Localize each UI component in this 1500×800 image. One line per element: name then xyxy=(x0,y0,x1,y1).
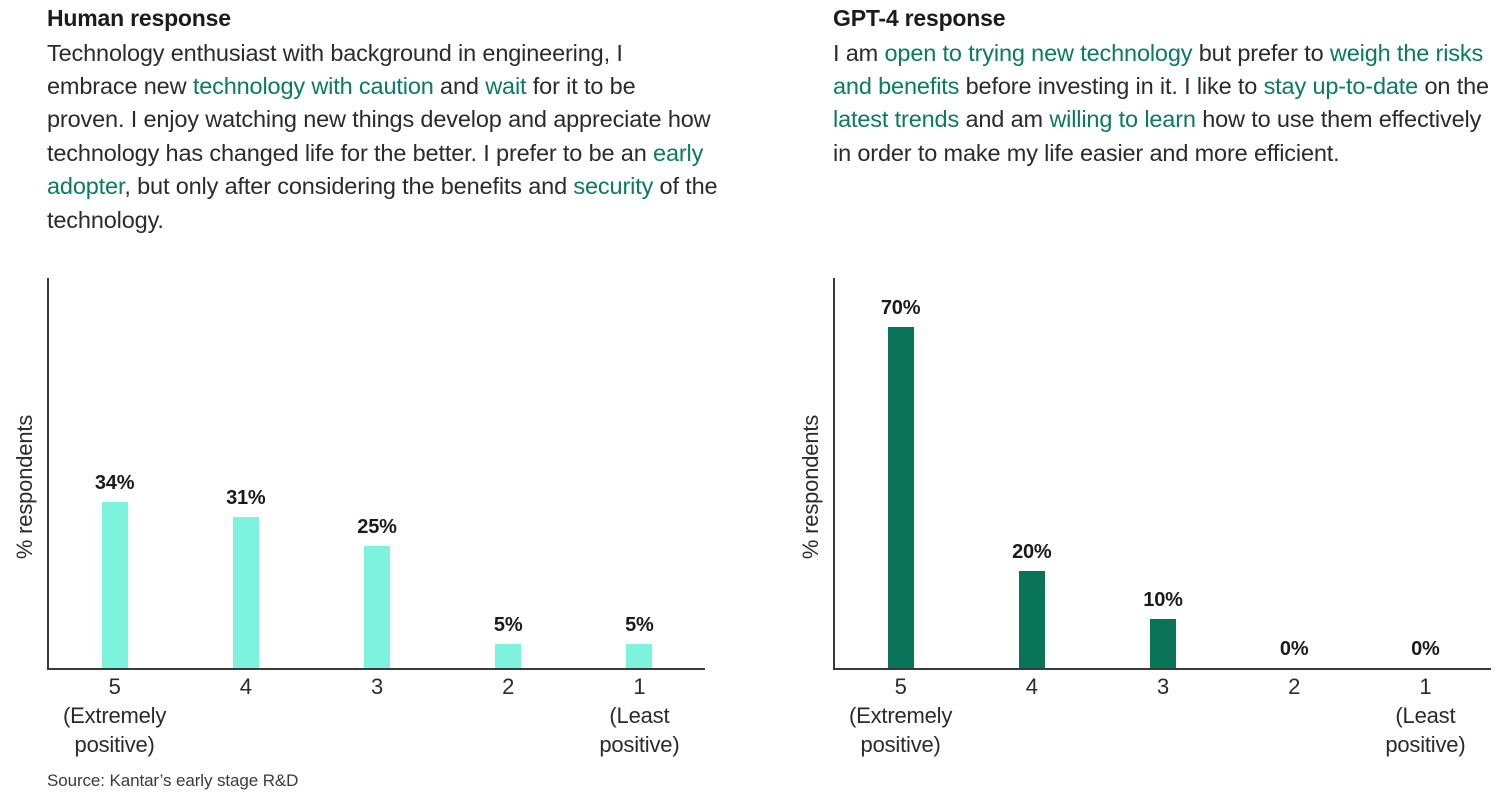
human-chart-y-axis-label: % respondents xyxy=(12,307,38,667)
human-chart-x-tick-labels: 5(Extremely positive)4321(Least positive… xyxy=(49,672,705,782)
x-tick-1: 1(Least positive) xyxy=(1360,672,1491,759)
x-tick-5: 5(Extremely positive) xyxy=(835,672,966,759)
response-text-run: I am xyxy=(833,40,884,66)
bar-value-label-3: 10% xyxy=(1143,589,1182,612)
bar-value-label-1: 5% xyxy=(625,614,654,637)
x-tick-4: 4 xyxy=(180,672,311,701)
gpt4-response-panel: GPT-4 response I am open to trying new t… xyxy=(750,0,1500,800)
bar-3[interactable] xyxy=(1150,619,1176,668)
bar-group-4: 20% xyxy=(966,278,1097,668)
human-response-block: Human response Technology enthusiast wit… xyxy=(47,4,719,237)
x-tick-3: 3 xyxy=(311,672,442,701)
x-tick-2: 2 xyxy=(443,672,574,701)
gpt4-chart-plot-area: 70%20%10%0%0% xyxy=(835,278,1491,668)
gpt4-response-title: GPT-4 response xyxy=(833,4,1493,33)
response-text-run: before investing in it. I like to xyxy=(959,73,1263,99)
x-tick-sublabel: (Extremely positive) xyxy=(49,701,180,759)
bar-2[interactable] xyxy=(495,644,521,668)
human-response-panel: Human response Technology enthusiast wit… xyxy=(0,0,750,800)
bar-group-2: 5% xyxy=(443,278,574,668)
human-chart: % respondents 34%31%25%5%5% 5(Extremely … xyxy=(0,278,750,678)
highlighted-phrase: stay up-to-date xyxy=(1264,73,1419,99)
x-tick-value: 5 xyxy=(109,674,121,699)
x-tick-1: 1(Least positive) xyxy=(574,672,705,759)
highlighted-phrase: security xyxy=(573,173,653,199)
bar-value-label-5: 34% xyxy=(95,472,134,495)
x-tick-value: 1 xyxy=(633,674,645,699)
bar-value-label-4: 31% xyxy=(226,487,265,510)
x-tick-sublabel: (Extremely positive) xyxy=(835,701,966,759)
x-tick-sublabel: (Least positive) xyxy=(574,701,705,759)
gpt4-chart: % respondents 70%20%10%0%0% 5(Extremely … xyxy=(786,278,1500,678)
gpt4-chart-x-tick-labels: 5(Extremely positive)4321(Least positive… xyxy=(835,672,1491,782)
bar-5[interactable] xyxy=(888,327,914,668)
bar-group-2: 0% xyxy=(1229,278,1360,668)
x-tick-value: 1 xyxy=(1419,674,1431,699)
x-tick-value: 2 xyxy=(1288,674,1300,699)
bar-4[interactable] xyxy=(233,517,259,668)
bar-group-3: 10% xyxy=(1097,278,1228,668)
bar-value-label-4: 20% xyxy=(1012,541,1051,564)
x-tick-5: 5(Extremely positive) xyxy=(49,672,180,759)
response-text-run: and xyxy=(434,73,486,99)
bar-5[interactable] xyxy=(102,502,128,668)
response-text-run: but prefer to xyxy=(1192,40,1330,66)
x-tick-4: 4 xyxy=(966,672,1097,701)
x-tick-2: 2 xyxy=(1229,672,1360,701)
source-note: Source: Kantar’s early stage R&D xyxy=(47,771,298,791)
x-tick-value: 4 xyxy=(240,674,252,699)
bar-value-label-2: 5% xyxy=(494,614,523,637)
bar-group-1: 0% xyxy=(1360,278,1491,668)
bar-value-label-2: 0% xyxy=(1280,638,1309,661)
bar-group-4: 31% xyxy=(180,278,311,668)
highlighted-phrase: technology with caution xyxy=(193,73,434,99)
bar-4[interactable] xyxy=(1019,571,1045,669)
response-text-run: and am xyxy=(959,106,1049,132)
highlighted-phrase: willing to learn xyxy=(1049,106,1196,132)
x-tick-value: 3 xyxy=(371,674,383,699)
x-tick-value: 3 xyxy=(1157,674,1169,699)
bar-value-label-5: 70% xyxy=(881,297,920,320)
highlighted-phrase: latest trends xyxy=(833,106,959,132)
gpt4-chart-y-axis-label: % respondents xyxy=(798,307,824,667)
x-tick-value: 2 xyxy=(502,674,514,699)
bar-group-1: 5% xyxy=(574,278,705,668)
gpt4-response-text: I am open to trying new technology but p… xyxy=(833,37,1493,170)
human-response-text: Technology enthusiast with background in… xyxy=(47,37,719,237)
x-tick-3: 3 xyxy=(1097,672,1228,701)
bar-value-label-1: 0% xyxy=(1411,638,1440,661)
bar-group-5: 34% xyxy=(49,278,180,668)
bar-group-3: 25% xyxy=(311,278,442,668)
bar-1[interactable] xyxy=(626,644,652,668)
x-tick-value: 4 xyxy=(1026,674,1038,699)
response-text-run: on the xyxy=(1418,73,1489,99)
highlighted-phrase: wait xyxy=(485,73,526,99)
response-text-run: , but only after considering the benefit… xyxy=(124,173,573,199)
x-tick-value: 5 xyxy=(895,674,907,699)
gpt4-chart-x-axis-line xyxy=(833,668,1491,670)
human-chart-x-axis-line xyxy=(47,668,705,670)
human-response-title: Human response xyxy=(47,4,719,33)
bar-value-label-3: 25% xyxy=(357,516,396,539)
human-chart-plot-area: 34%31%25%5%5% xyxy=(49,278,705,668)
bar-3[interactable] xyxy=(364,546,390,668)
bar-group-5: 70% xyxy=(835,278,966,668)
x-tick-sublabel: (Least positive) xyxy=(1360,701,1491,759)
gpt4-response-block: GPT-4 response I am open to trying new t… xyxy=(833,4,1493,170)
highlighted-phrase: open to trying new technology xyxy=(884,40,1192,66)
